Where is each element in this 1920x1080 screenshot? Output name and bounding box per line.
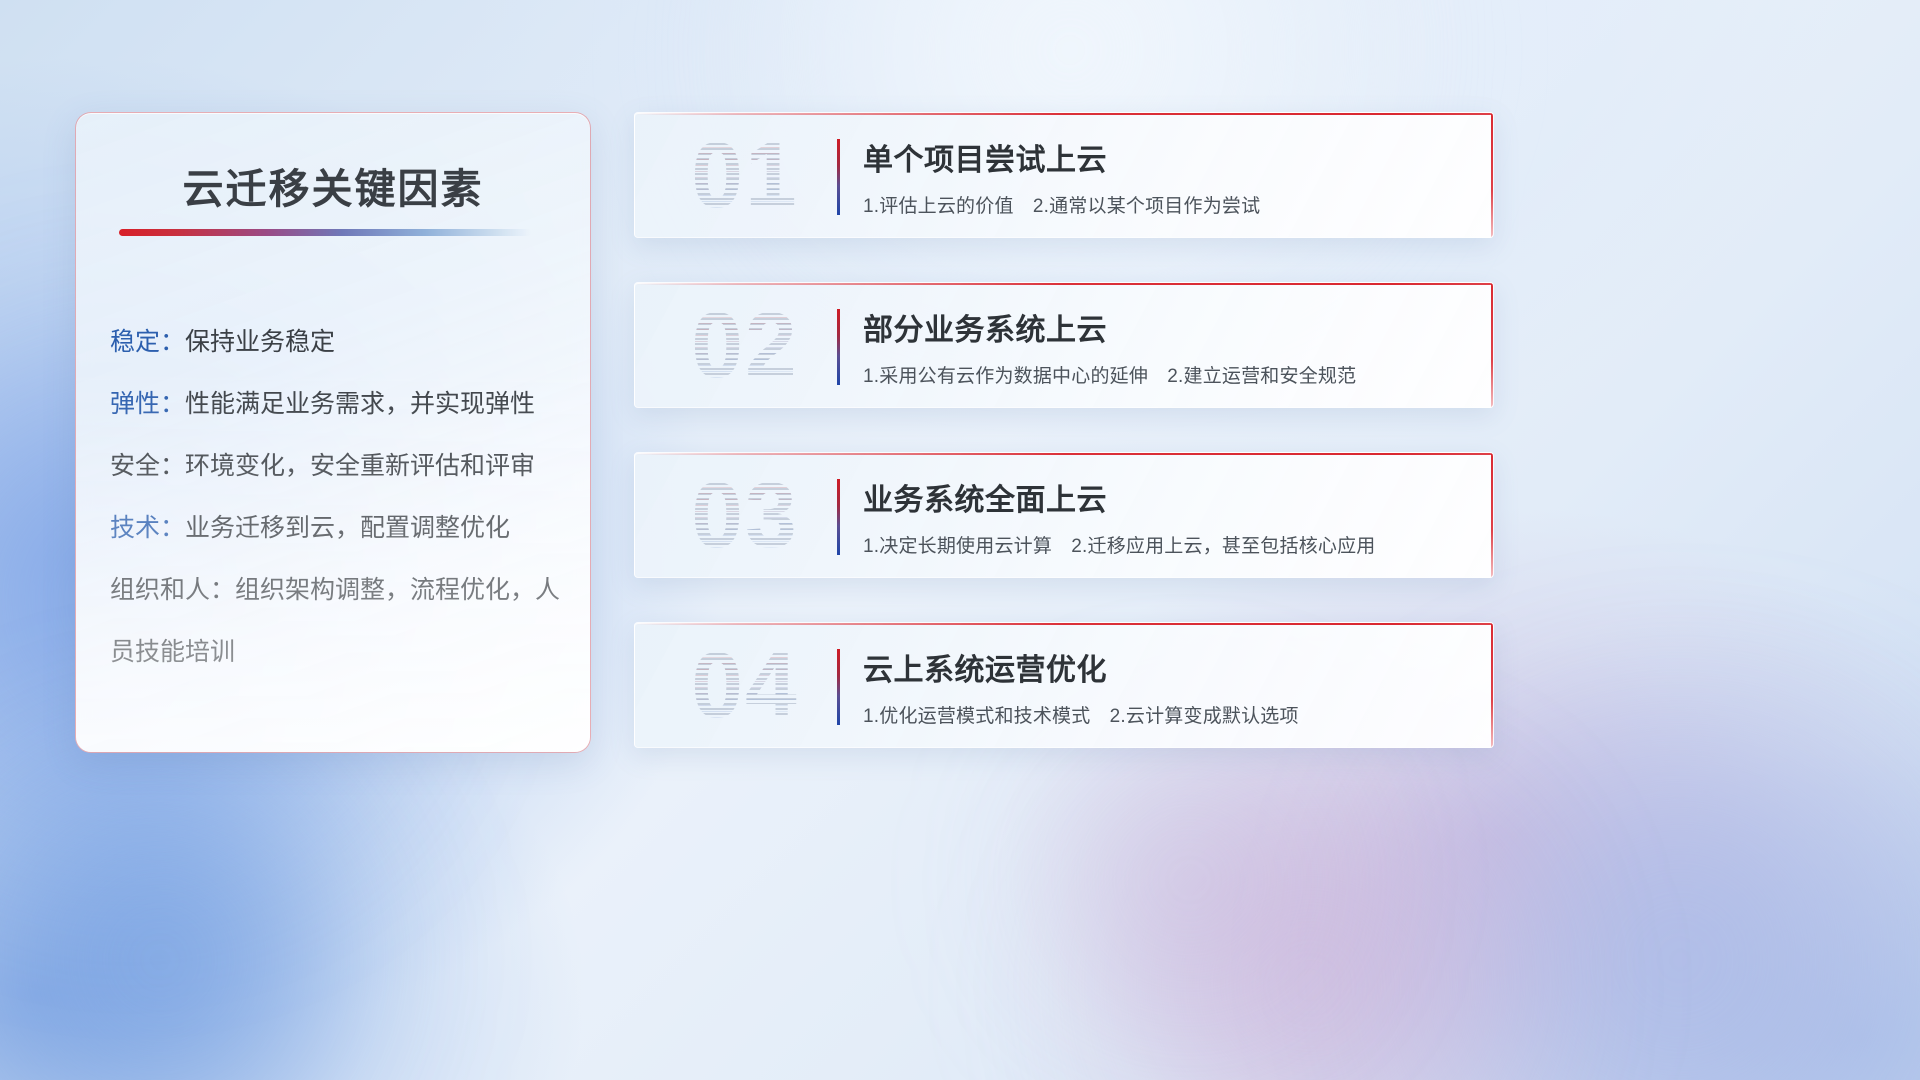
stage-card-body: 业务系统全面上云 1.决定长期使用云计算 2.迁移应用上云，甚至包括核心应用 (863, 475, 1469, 558)
factor-item-stability: 稳定：保持业务稳定 (110, 311, 568, 373)
stage-number-watermark: 02 (657, 293, 833, 397)
title-underline-gradient (119, 229, 531, 236)
stage-card-list: 01 01 单个项目尝试上云 1.评估上云的价值 2.通常以某个项目作为尝试 0… (634, 112, 1494, 792)
stage-card-subtitle: 1.评估上云的价值 2.通常以某个项目作为尝试 (863, 191, 1469, 218)
stage-number-watermark: 03 (657, 463, 833, 567)
stage-card-01[interactable]: 01 01 单个项目尝试上云 1.评估上云的价值 2.通常以某个项目作为尝试 (634, 112, 1494, 238)
factor-item-organization: 组织和人：组织架构调整，流程优化，人员技能培训 (110, 559, 568, 683)
factor-list: 稳定：保持业务稳定 弹性：性能满足业务需求，并实现弹性 安全：环境变化，安全重新… (110, 311, 568, 683)
slide-canvas: 云迁移关键因素 稳定：保持业务稳定 弹性：性能满足业务需求，并实现弹性 安全：环… (0, 0, 1920, 1080)
background-blob-purple (1000, 770, 1620, 1080)
factor-item-technology: 技术：业务迁移到云，配置调整优化 (110, 497, 568, 559)
stage-card-02[interactable]: 02 02 部分业务系统上云 1.采用公有云作为数据中心的延伸 2.建立运营和安… (634, 282, 1494, 408)
factor-label: 稳定： (110, 328, 185, 356)
factor-label: 弹性： (110, 390, 185, 418)
factor-label: 安全： (110, 452, 185, 480)
key-factors-panel: 云迁移关键因素 稳定：保持业务稳定 弹性：性能满足业务需求，并实现弹性 安全：环… (75, 112, 591, 753)
stage-card-body: 云上系统运营优化 1.优化运营模式和技术模式 2.云计算变成默认选项 (863, 645, 1469, 728)
stage-number-watermark: 04 (657, 633, 833, 737)
factor-value: 业务迁移到云，配置调整优化 (185, 514, 510, 542)
factor-label: 技术： (110, 514, 185, 542)
factor-item-elasticity: 弹性：性能满足业务需求，并实现弹性 (110, 373, 568, 435)
factor-value: 性能满足业务需求，并实现弹性 (185, 390, 535, 418)
stage-card-title: 单个项目尝试上云 (863, 135, 1469, 179)
stage-card-title: 业务系统全面上云 (863, 475, 1469, 519)
accent-bar (837, 139, 840, 215)
accent-bar (837, 309, 840, 385)
stage-card-subtitle: 1.采用公有云作为数据中心的延伸 2.建立运营和安全规范 (863, 361, 1469, 388)
stage-number-watermark: 01 (657, 123, 833, 227)
stage-card-04[interactable]: 04 04 云上系统运营优化 1.优化运营模式和技术模式 2.云计算变成默认选项 (634, 622, 1494, 748)
factor-item-security: 安全：环境变化，安全重新评估和评审 (110, 435, 568, 497)
stage-card-title: 云上系统运营优化 (863, 645, 1469, 689)
factor-label: 组织和人： (110, 576, 235, 604)
stage-card-subtitle: 1.优化运营模式和技术模式 2.云计算变成默认选项 (863, 701, 1469, 728)
accent-bar (837, 649, 840, 725)
stage-card-body: 部分业务系统上云 1.采用公有云作为数据中心的延伸 2.建立运营和安全规范 (863, 305, 1469, 388)
stage-card-title: 部分业务系统上云 (863, 305, 1469, 349)
factor-value: 保持业务稳定 (185, 328, 335, 356)
accent-bar (837, 479, 840, 555)
factor-value: 环境变化，安全重新评估和评审 (185, 452, 535, 480)
background-blob-left-lower (0, 720, 440, 1080)
page-title: 云迁移关键因素 (76, 155, 590, 215)
stage-card-subtitle: 1.决定长期使用云计算 2.迁移应用上云，甚至包括核心应用 (863, 531, 1469, 558)
stage-card-03[interactable]: 03 03 业务系统全面上云 1.决定长期使用云计算 2.迁移应用上云，甚至包括… (634, 452, 1494, 578)
stage-card-body: 单个项目尝试上云 1.评估上云的价值 2.通常以某个项目作为尝试 (863, 135, 1469, 218)
